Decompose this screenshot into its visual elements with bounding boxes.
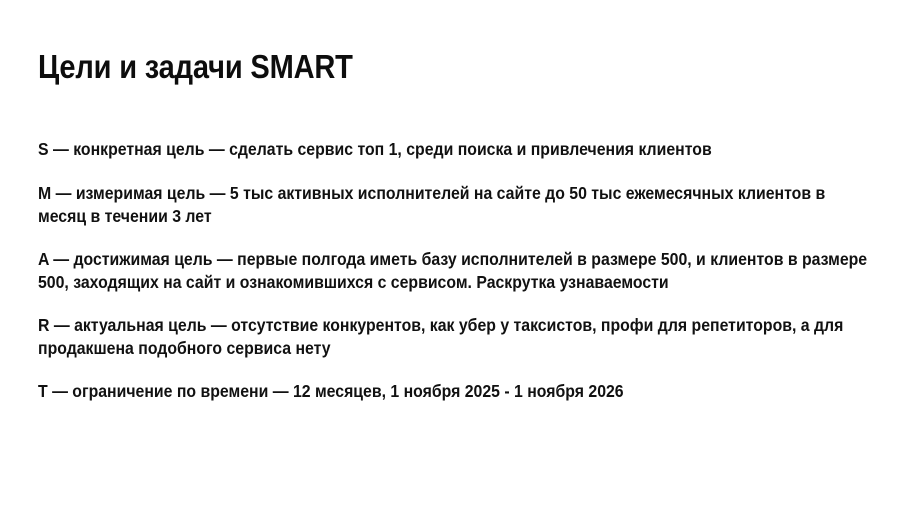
goal-item-t: T — ограничение по времени — 12 месяцев,…	[38, 380, 868, 403]
goal-item-a: A — достижимая цель — первые полгода име…	[38, 248, 868, 294]
goal-item-m: M — измеримая цель — 5 тыс активных испо…	[38, 182, 868, 228]
page-title: Цели и задачи SMART	[38, 48, 353, 86]
smart-goals-list: S — конкретная цель — сделать сервис топ…	[38, 138, 868, 403]
goal-item-r: R — актуальная цель — отсутствие конкуре…	[38, 314, 868, 360]
slide-canvas: Цели и задачи SMART S — конкретная цель …	[0, 0, 900, 506]
goal-item-s: S — конкретная цель — сделать сервис топ…	[38, 138, 868, 161]
